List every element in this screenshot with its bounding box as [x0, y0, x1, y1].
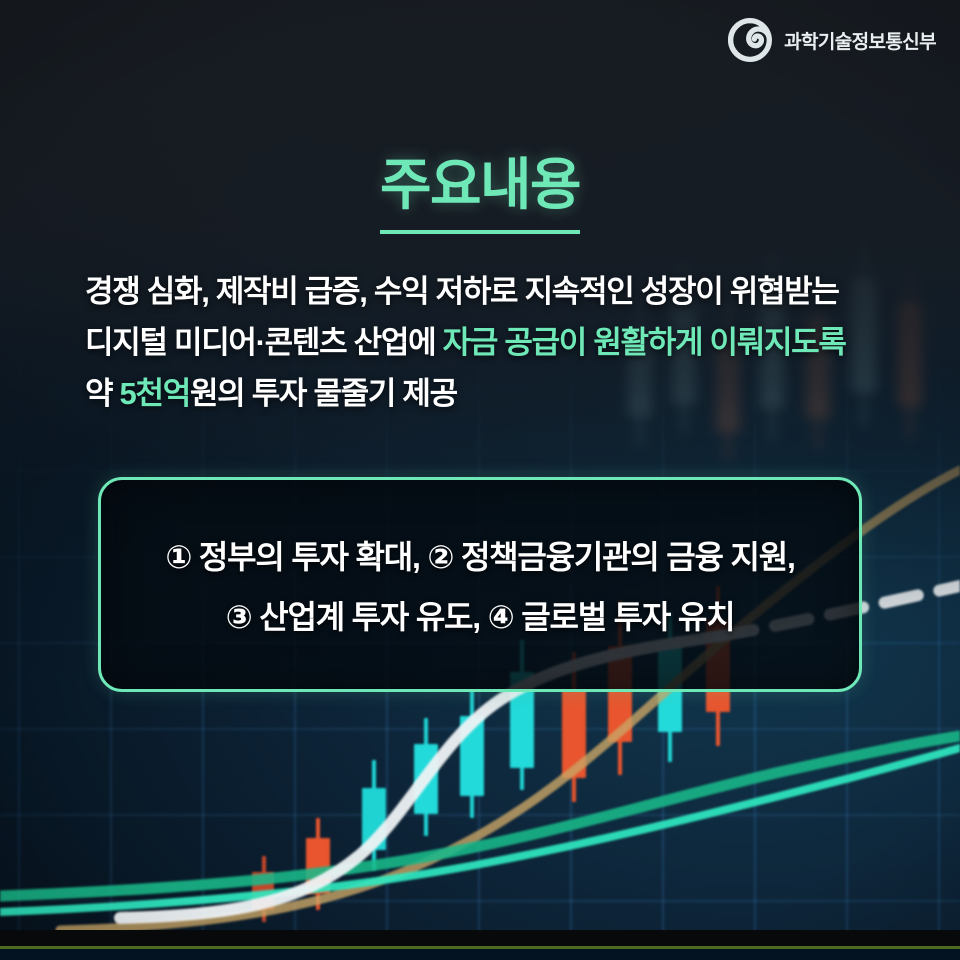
body-line-1: 경쟁 심화, 제작비 급증, 수익 저하로 지속적인 성장이 위협받는	[85, 266, 900, 317]
page-title-wrap: 주요내용	[0, 140, 960, 234]
body-line-2-accent: 자금 공급이 원활하게 이뤄지도록	[443, 325, 846, 360]
ministry-header: 과학기술정보통신부	[728, 18, 936, 62]
body-line-3-prefix: 약	[85, 376, 120, 411]
infographic-card: 과학기술정보통신부 주요내용 경쟁 심화, 제작비 급증, 수익 저하로 지속적…	[0, 0, 960, 960]
body-line-3: 약 5천억원의 투자 물줄기 제공	[85, 368, 900, 419]
ministry-name-label: 과학기술정보통신부	[784, 27, 936, 54]
body-line-2-plain: 디지털 미디어·콘텐츠 산업에	[85, 325, 443, 360]
key-points-box: ① 정부의 투자 확대, ② 정책금융기관의 금융 지원, ③ 산업계 투자 유…	[98, 477, 862, 692]
bottom-navy-band	[0, 949, 960, 960]
korea-government-taegeuk-emblem-icon	[728, 18, 772, 62]
body-paragraph: 경쟁 심화, 제작비 급증, 수익 저하로 지속적인 성장이 위협받는 디지털 …	[85, 266, 900, 419]
body-line-3-accent: 5천억	[120, 376, 190, 411]
key-points-line-1: ① 정부의 투자 확대, ② 정책금융기관의 금융 지원,	[165, 532, 794, 578]
page-title: 주요내용	[380, 140, 580, 234]
body-line-3-suffix: 원의 투자 물줄기 제공	[190, 376, 457, 411]
body-line-2: 디지털 미디어·콘텐츠 산업에 자금 공급이 원활하게 이뤄지도록	[85, 317, 900, 368]
key-points-line-2: ③ 산업계 투자 유도, ④ 글로벌 투자 유치	[226, 592, 735, 638]
